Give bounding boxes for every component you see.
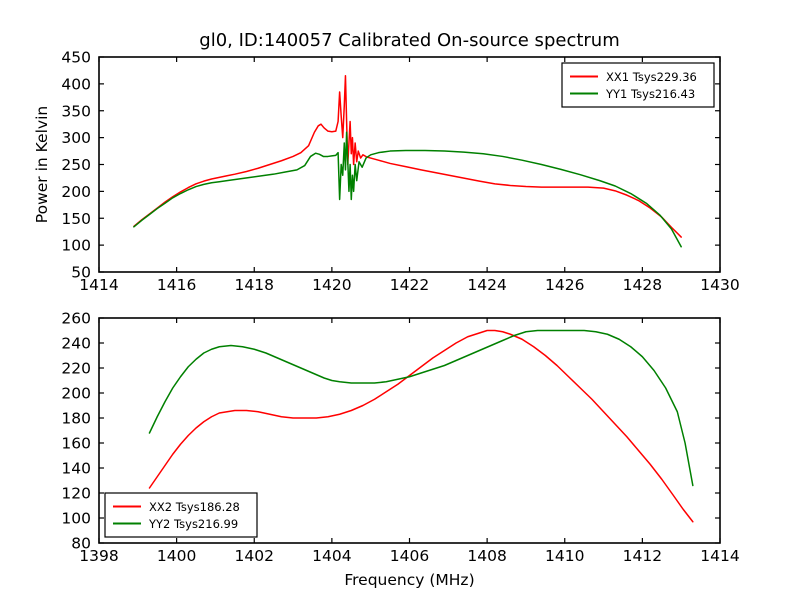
- x-tick-label: 1428: [623, 276, 662, 294]
- x-tick-label: 1422: [390, 276, 429, 294]
- spectrum-plot: 1414141614181420142214241426142814305010…: [0, 0, 800, 600]
- axes-panel-bottom: 1398140014021404140614081410141214148010…: [61, 310, 739, 590]
- y-tick-label: 260: [61, 310, 91, 328]
- y-tick-label: 80: [71, 535, 91, 553]
- x-tick-label: 1426: [545, 276, 584, 294]
- y-tick-label: 160: [61, 435, 91, 453]
- y-tick-label: 240: [61, 335, 91, 353]
- plot-title: gl0, ID:140057 Calibrated On-source spec…: [199, 30, 619, 51]
- x-tick-label: 1414: [700, 547, 739, 565]
- y-tick-label: 250: [61, 156, 91, 174]
- y-tick-label: 220: [61, 360, 91, 378]
- y-tick-label: 450: [61, 49, 91, 67]
- y-tick-label: 120: [61, 485, 91, 503]
- y-tick-label: 100: [61, 237, 91, 255]
- y-tick-label: 150: [61, 210, 91, 228]
- y-tick-label: 100: [61, 510, 91, 528]
- legend-label: XX1 Tsys229.36: [606, 70, 697, 84]
- series-line-yy: [149, 331, 692, 486]
- legend-top[interactable]: XX1 Tsys229.36YY1 Tsys216.43: [562, 63, 714, 107]
- legend-label: YY2 Tsys216.99: [148, 517, 238, 531]
- x-tick-label: 1406: [390, 547, 429, 565]
- axes-panel-top: 1414141614181420142214241426142814305010…: [33, 30, 740, 294]
- legend-bottom[interactable]: XX2 Tsys186.28YY2 Tsys216.99: [105, 493, 257, 537]
- y-tick-label: 50: [71, 264, 91, 282]
- y-tick-label: 350: [61, 102, 91, 120]
- x-tick-label: 1410: [545, 547, 584, 565]
- y-tick-label: 200: [61, 385, 91, 403]
- legend-label: YY1 Tsys216.43: [605, 87, 695, 101]
- y-tick-label: 400: [61, 75, 91, 93]
- figure-canvas: 1414141614181420142214241426142814305010…: [0, 0, 800, 600]
- y-tick-label: 200: [61, 183, 91, 201]
- x-tick-label: 1416: [157, 276, 196, 294]
- x-tick-label: 1402: [235, 547, 274, 565]
- y-tick-label: 300: [61, 129, 91, 147]
- x-axis-label: Frequency (MHz): [344, 571, 474, 589]
- x-tick-label: 1408: [467, 547, 506, 565]
- series-line-yy: [134, 132, 681, 246]
- x-tick-label: 1430: [700, 276, 739, 294]
- x-tick-label: 1412: [623, 547, 662, 565]
- x-tick-label: 1424: [467, 276, 506, 294]
- x-tick-label: 1404: [312, 547, 351, 565]
- legend-label: XX2 Tsys186.28: [149, 500, 240, 514]
- x-tick-label: 1420: [312, 276, 351, 294]
- x-tick-label: 1418: [235, 276, 274, 294]
- x-tick-label: 1400: [157, 547, 196, 565]
- y-tick-label: 140: [61, 460, 91, 478]
- y-tick-label: 180: [61, 410, 91, 428]
- y-axis-label: Power in Kelvin: [33, 106, 51, 223]
